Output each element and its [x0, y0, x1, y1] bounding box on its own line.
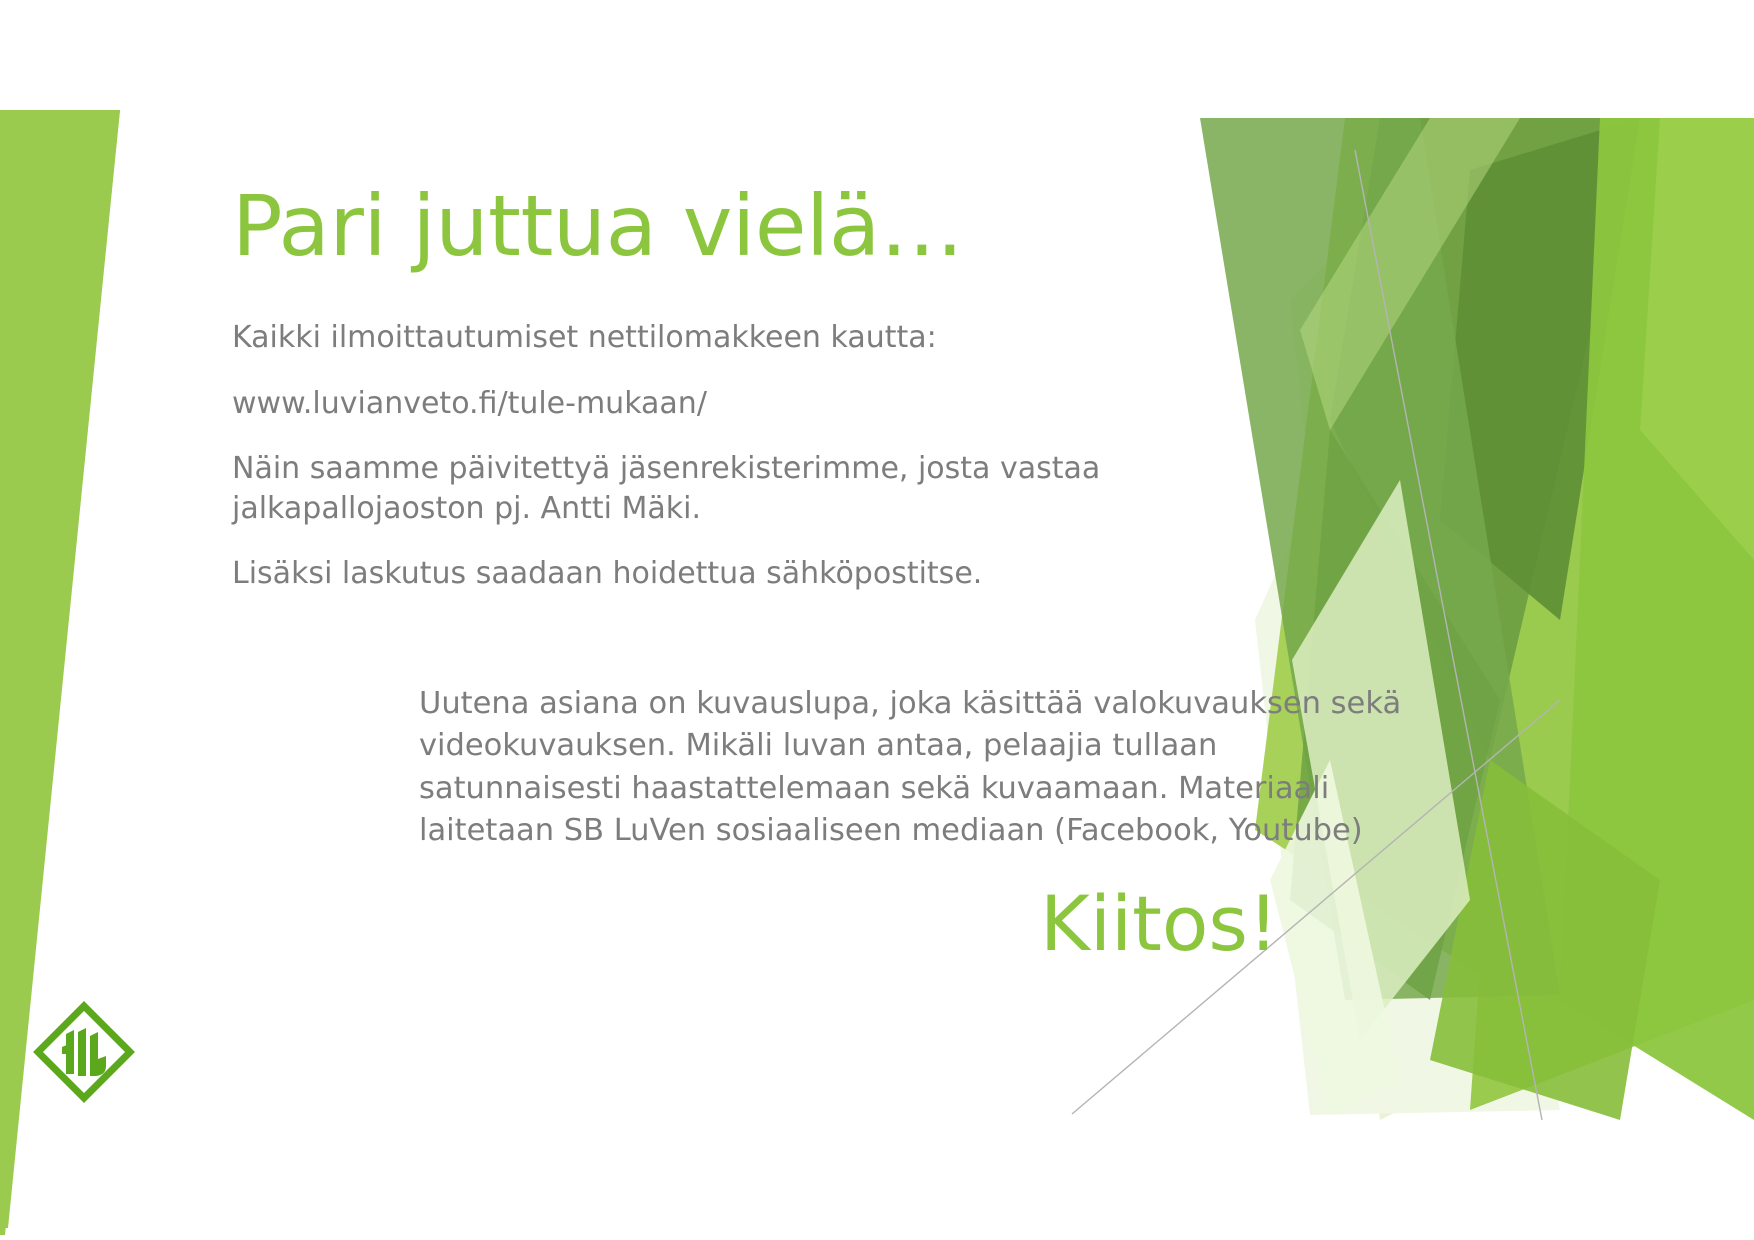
note-paragraph: Uutena asiana on kuvauslupa, joka käsitt… — [419, 683, 1419, 853]
body-text-block: Kaikki ilmoittautumiset nettilomakkeen k… — [232, 318, 1132, 620]
slide-canvas: Pari juttua vielä… Kaikki ilmoittautumis… — [0, 0, 1754, 1240]
body-paragraph-1: Kaikki ilmoittautumiset nettilomakkeen k… — [232, 318, 1132, 358]
closing-thanks-text: Kiitos! — [1040, 886, 1278, 962]
page-title: Pari juttua vielä… — [232, 182, 1232, 270]
body-paragraph-3: Näin saamme päivitettyä jäsenrekisterimm… — [232, 449, 1132, 528]
note-text-block: Uutena asiana on kuvauslupa, joka käsitt… — [419, 683, 1419, 853]
slide-content: Pari juttua vielä… Kaikki ilmoittautumis… — [0, 0, 1754, 1240]
logo-letter-marks — [62, 1028, 106, 1076]
body-paragraph-4: Lisäksi laskutus saadaan hoidettua sähkö… — [232, 554, 1132, 594]
luvian-veto-diamond-logo — [32, 1000, 136, 1104]
body-paragraph-url[interactable]: www.luvianveto.fi/tule-mukaan/ — [232, 384, 1132, 424]
